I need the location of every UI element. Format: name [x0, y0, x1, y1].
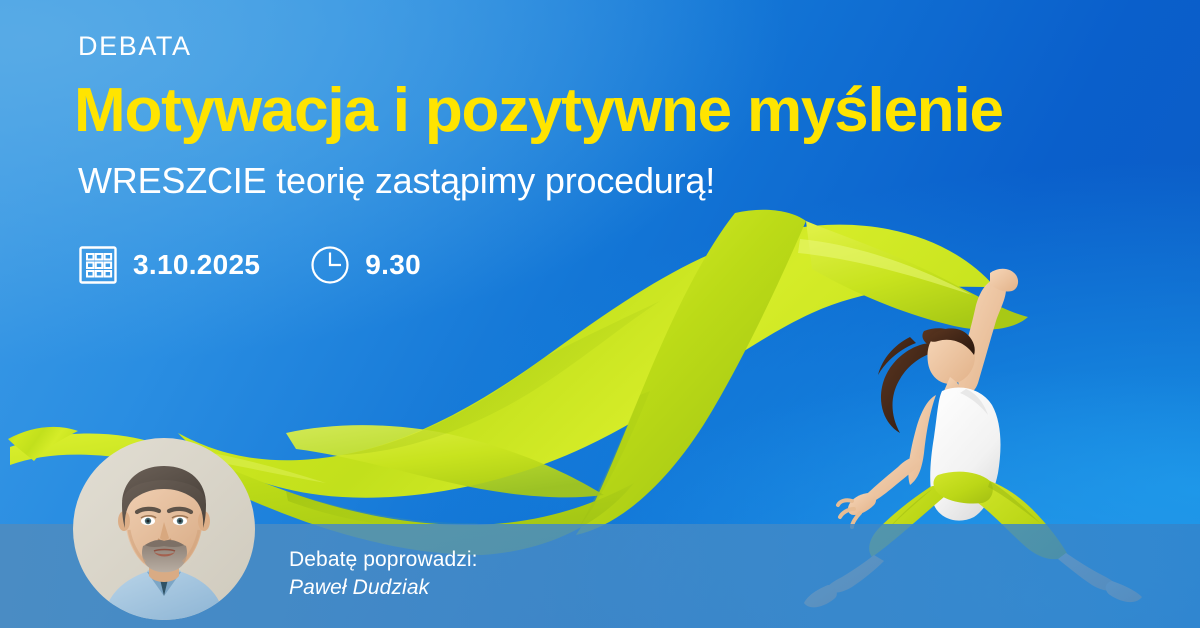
host-credit: Debatę poprowadzi: Paweł Dudziak — [289, 546, 478, 603]
event-meta: 3.10.2025 9.30 — [76, 243, 421, 287]
host-name: Paweł Dudziak — [289, 574, 478, 602]
event-time-group: 9.30 — [308, 243, 421, 287]
clock-icon — [308, 243, 352, 287]
page-title: Motywacja i pozytywne myślenie — [74, 78, 1003, 143]
calendar-icon — [76, 243, 120, 287]
event-banner: DEBATA Motywacja i pozytywne myślenie WR… — [0, 0, 1200, 628]
avatar — [73, 438, 255, 620]
kicker-label: DEBATA — [78, 33, 192, 60]
subtitle: WRESZCIE teorię zastąpimy procedurą! — [78, 160, 715, 201]
event-date: 3.10.2025 — [133, 251, 260, 279]
host-label: Debatę poprowadzi: — [289, 546, 478, 574]
event-time: 9.30 — [365, 251, 421, 279]
event-date-group: 3.10.2025 — [76, 243, 260, 287]
